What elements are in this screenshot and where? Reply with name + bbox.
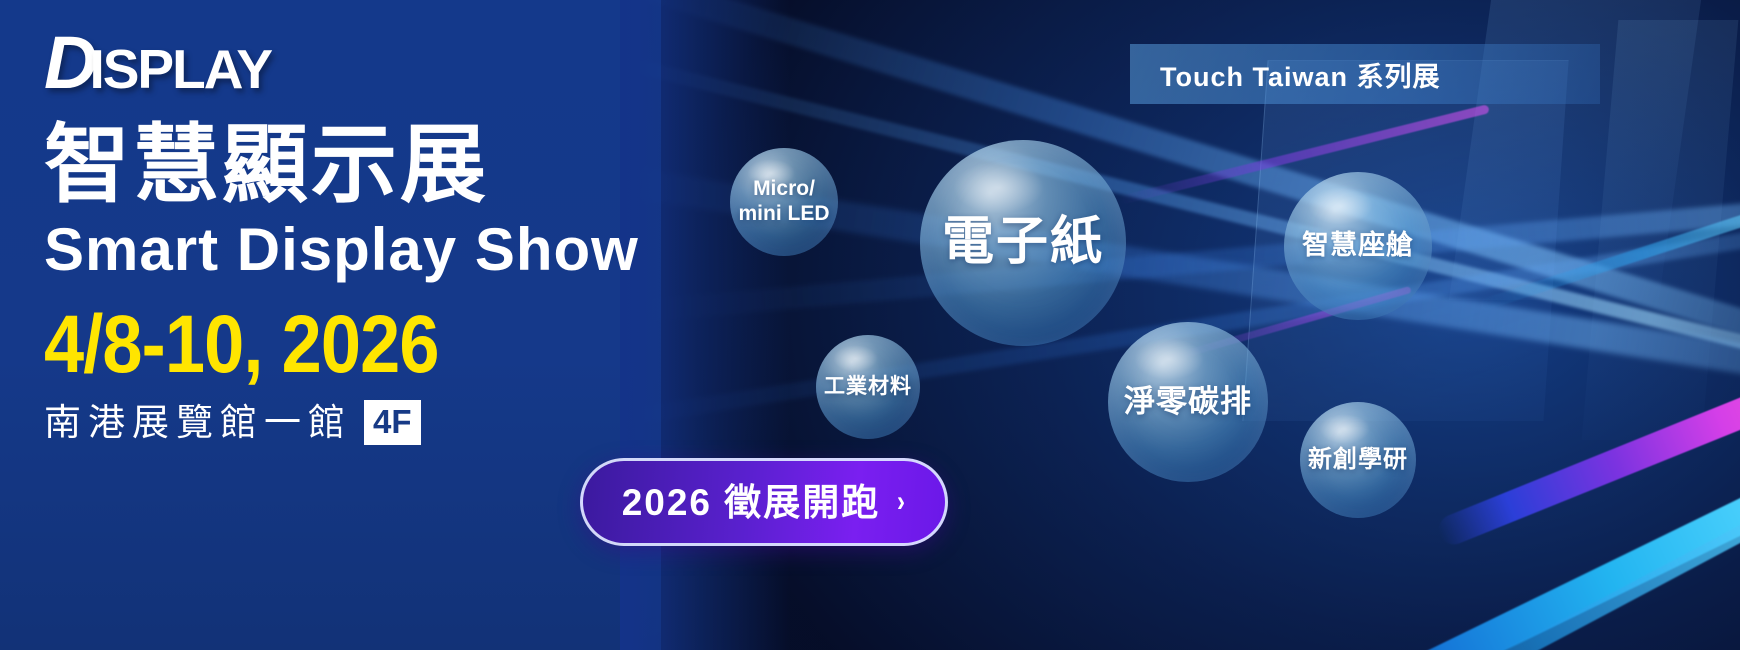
chevron-right-icon: › [897,487,905,517]
topic-bubble-micro-led[interactable]: Micro/ mini LED [730,148,838,256]
logo-initial: D [44,21,93,104]
page-title-en: Smart Display Show [44,220,764,280]
event-date: 4/8-10, 2026 [44,304,678,386]
topic-label: 電子紙 [942,212,1104,273]
topic-bubble-e-paper[interactable]: 電子紙 [920,140,1126,346]
page-title-cn: 智慧顯示展 [44,122,764,208]
floor-badge: 4F [364,400,421,445]
logo-wordmark: ISPLAY [89,38,271,100]
topic-bubble-startup[interactable]: 新創學研 [1300,402,1416,518]
venue-row: 南港展覽館一館 4F [44,400,764,445]
topic-bubble-net-zero[interactable]: 淨零碳排 [1108,322,1268,482]
topic-label: 新創學研 [1308,446,1408,474]
promo-banner: DISPLAY 智慧顯示展 Smart Display Show 4/8-10,… [0,0,1740,650]
left-content-column: DISPLAY 智慧顯示展 Smart Display Show 4/8-10,… [44,26,764,445]
series-panel: Touch Taiwan 系列展 [1130,44,1600,104]
cta-button[interactable]: 2026 徵展開跑 › [580,458,948,546]
topic-bubble-materials[interactable]: 工業材料 [816,335,920,439]
series-panel-label: Touch Taiwan 系列展 [1130,55,1441,94]
cta-label: 2026 徵展開跑 [622,484,881,521]
topic-label-line: Micro/ [753,177,815,200]
topic-label: 工業材料 [824,375,912,400]
topic-label: 智慧座艙 [1302,230,1414,262]
topic-label: Micro/ mini LED [738,177,829,227]
topic-label: 淨零碳排 [1124,384,1252,421]
event-venue: 南港展覽館一館 [44,404,352,441]
display-logo: DISPLAY [44,26,271,100]
topic-label-line: mini LED [738,202,829,225]
topic-bubble-cockpit[interactable]: 智慧座艙 [1284,172,1432,320]
